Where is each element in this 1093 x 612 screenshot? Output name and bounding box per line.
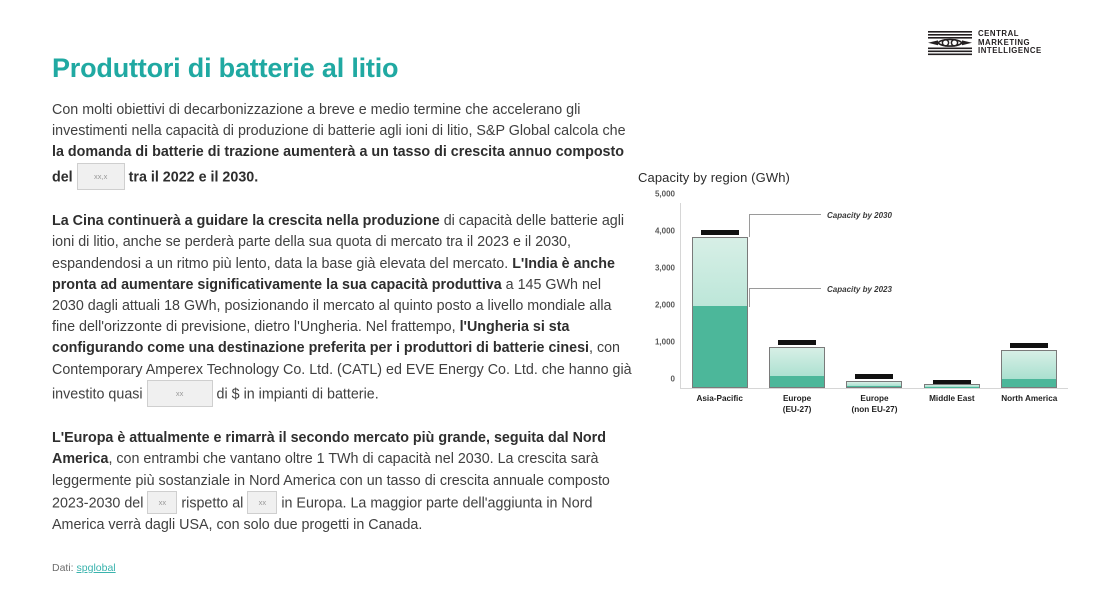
bar-group: Asia-PacificEurope(EU-27)Europe(non EU-2… [681,203,1068,388]
bar-cap-marker [701,230,739,235]
redacted-value-cagr-na[interactable]: xx [147,491,177,515]
catl-body-tail: di $ in impianti di batterie. [213,386,379,402]
bar-column: Europe(EU-27) [769,347,825,388]
bar-cap-marker [778,340,816,345]
annotation-2023-leader-vertical [749,289,750,307]
chart-title: Capacity by region (GWh) [638,170,1076,185]
source-note: Dati: spglobal [52,562,116,574]
intro-text-lead: Con molti obiettivi di decarbonizzazione… [52,102,626,139]
annotation-2030-leader-horizontal [749,214,821,215]
bar-2023-segment [693,306,747,387]
intro-text-tail: tra il 2022 e il 2030. [129,169,259,185]
y-tick-label: 0 [671,375,675,384]
y-tick-label: 4,000 [655,227,675,236]
bar-cap-marker [855,374,893,379]
source-label: Dati: [52,562,74,574]
bar-2030-segment [769,347,825,388]
x-axis-label: North America [981,394,1077,405]
article-body: Produttori di batterie al litio Con molt… [52,52,632,537]
bar-slot[interactable]: Asia-Pacific [690,203,750,388]
redacted-value-cagr[interactable]: xx,x [77,163,125,191]
annotation-2023-leader-horizontal [749,288,821,289]
bar-2023-segment [770,376,824,387]
paragraph-europe-na: L'Europa è attualmente e rimarrà il seco… [52,428,632,536]
bar-column: Asia-Pacific [692,237,748,388]
redacted-value-cagr-eu[interactable]: xx [247,491,277,515]
bar-slot[interactable]: North America [999,203,1059,388]
annotation-2030-leader-vertical [749,215,750,237]
bar-2023-segment [1002,379,1056,387]
redacted-value-investment[interactable]: xx [147,380,213,408]
y-tick-label: 2,000 [655,301,675,310]
bar-column: Europe(non EU-27) [846,381,902,388]
source-link-spglobal[interactable]: spglobal [77,562,116,574]
bar-2023-segment [847,386,901,387]
bar-2030-segment [692,237,748,388]
capacity-chart: Capacity by region (GWh) 01,0002,0003,00… [636,170,1076,410]
paragraph-intro: Con molti obiettivi di decarbonizzazione… [52,100,632,191]
paragraph-china-india: La Cina continuerà a guidare la crescita… [52,211,632,408]
page-title: Produttori di batterie al litio [52,52,632,84]
bar-column: North America [1001,350,1057,388]
eye-lens-mark [928,30,972,56]
y-tick-label: 3,000 [655,264,675,273]
bar-slot[interactable]: Europe(EU-27) [767,203,827,388]
bar-column: Middle East [924,384,980,388]
bar-cap-marker [1010,343,1048,348]
logo-line-3: INTELLIGENCE [978,47,1042,56]
brand-logo: CENTRAL MARKETING INTELLIGENCE [928,30,1042,56]
logo-wordmark: CENTRAL MARKETING INTELLIGENCE [978,30,1042,56]
bar-slot[interactable]: Middle East [922,203,982,388]
europe-compare-text: rispetto al [177,495,247,511]
bar-slot[interactable]: Europe(non EU-27) [844,203,904,388]
china-lead-bold: La Cina continuerà a guidare la crescita… [52,213,440,229]
y-tick-label: 1,000 [655,338,675,347]
bar-2030-segment [846,381,902,388]
bar-2030-segment [924,384,980,388]
annotation-2030-label: Capacity by 2030 [827,211,892,220]
bar-2030-segment [1001,350,1057,388]
y-tick-label: 5,000 [655,190,675,199]
chart-plot-area: 01,0002,0003,0004,0005,000 Asia-PacificE… [680,203,1068,389]
annotation-2023-label: Capacity by 2023 [827,285,892,294]
